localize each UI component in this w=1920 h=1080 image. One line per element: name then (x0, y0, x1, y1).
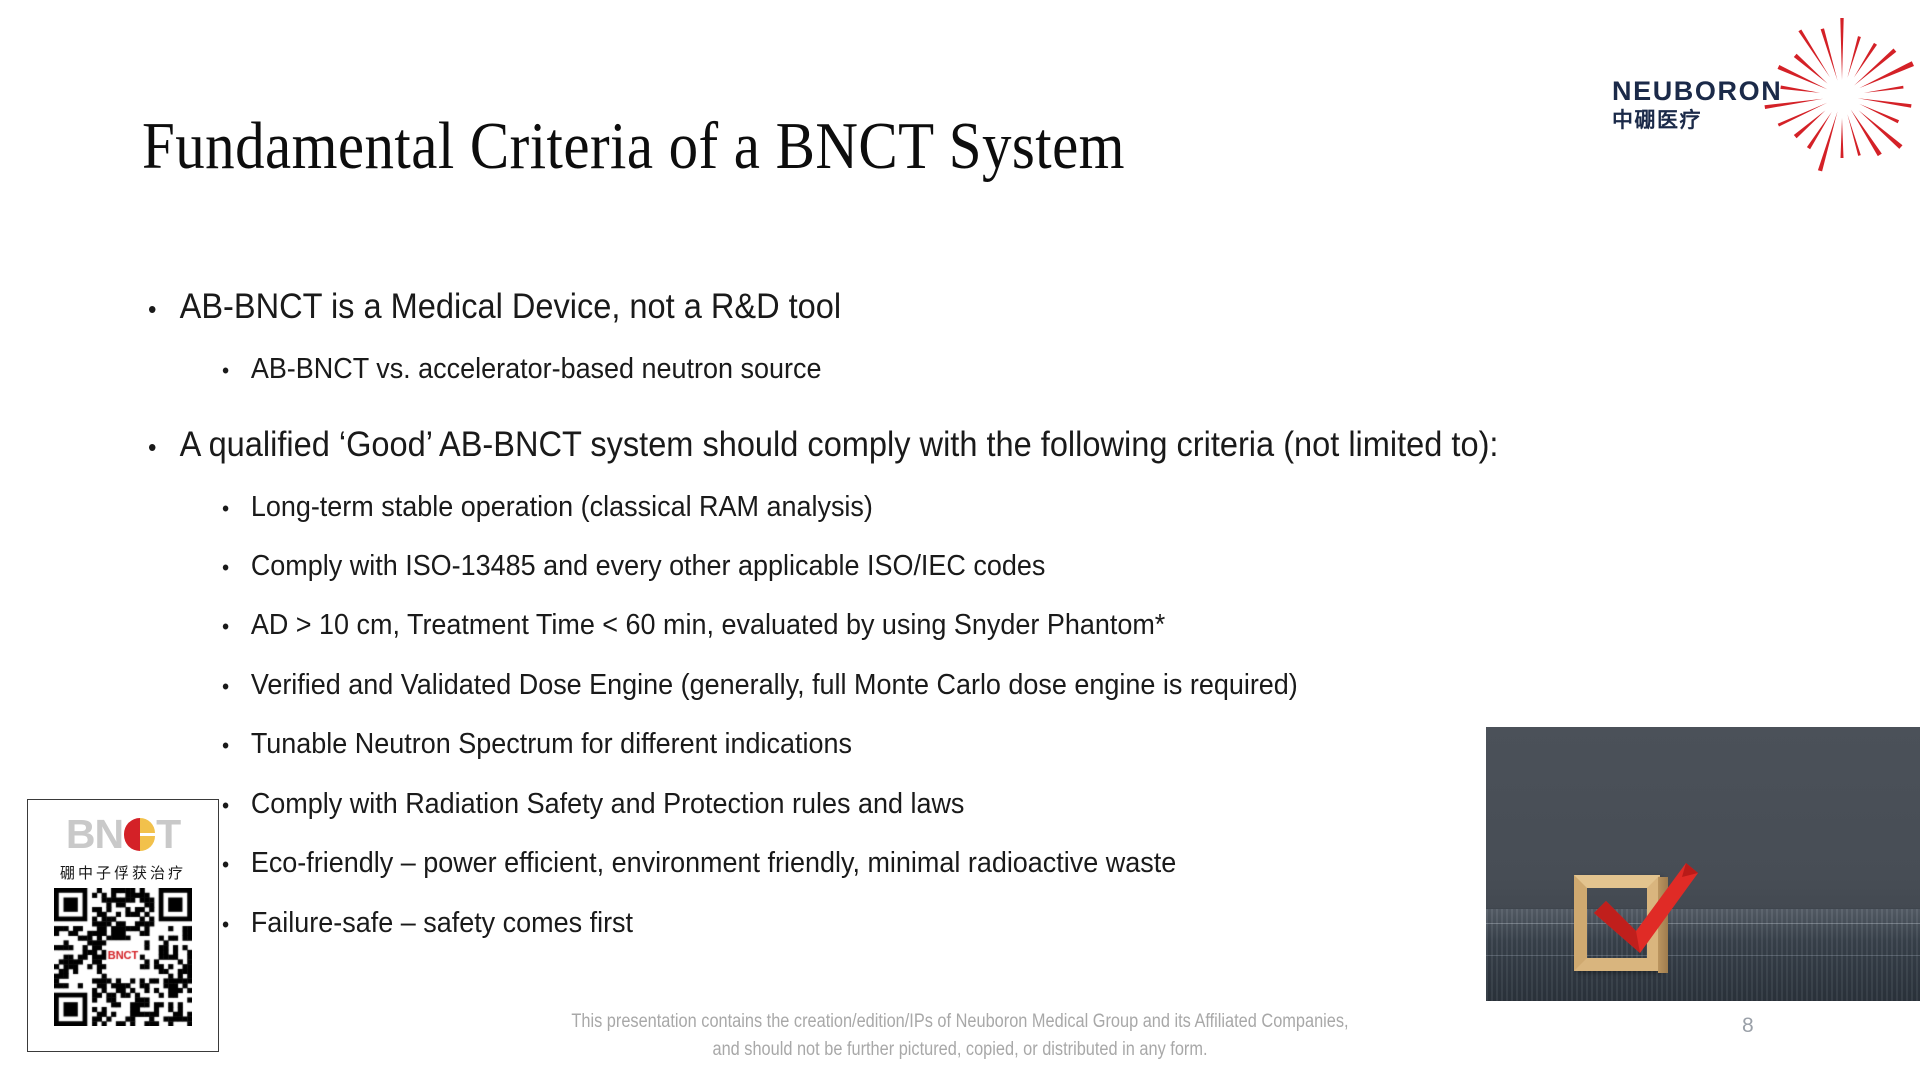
bullet-text: Tunable Neutron Spectrum for different i… (251, 728, 852, 761)
bullet-item-l2: •Failure-safe – safety comes first (222, 907, 633, 940)
bnct-badge-logo: B N T (38, 811, 208, 858)
bullet-text: Comply with Radiation Safety and Protect… (251, 788, 965, 821)
bullet-marker-icon: • (148, 296, 180, 322)
checkmark-icon (1590, 857, 1700, 957)
bullet-marker-icon: • (222, 795, 251, 817)
bullet-item-l2: •Comply with ISO-13485 and every other a… (222, 550, 1045, 583)
bullet-text: AD > 10 cm, Treatment Time < 60 min, eva… (251, 609, 1165, 642)
bullet-marker-icon: • (222, 557, 251, 579)
bullet-marker-icon: • (222, 854, 251, 876)
bullet-marker-icon: • (222, 735, 251, 757)
sunburst-icon (1762, 16, 1920, 176)
bullet-item-l2: •AD > 10 cm, Treatment Time < 60 min, ev… (222, 609, 1165, 642)
bullet-text: AB-BNCT vs. accelerator-based neutron so… (251, 353, 822, 386)
bullet-marker-icon: • (222, 616, 251, 638)
page-title: Fundamental Criteria of a BNCT System (142, 108, 1125, 185)
bullet-text: Long-term stable operation (classical RA… (251, 491, 873, 524)
badge-letter-b: B (66, 814, 95, 855)
bullet-text: Comply with ISO-13485 and every other ap… (251, 550, 1046, 583)
badge-caption-cn: 硼中子俘获治疗 (38, 862, 208, 883)
slide-canvas: NEUBORON 中硼医疗 Fundamental Criteria of a … (0, 0, 1920, 1080)
bullet-item-l2: •AB-BNCT vs. accelerator-based neutron s… (222, 353, 821, 386)
bullet-item-l1: •AB-BNCT is a Medical Device, not a R&D … (148, 287, 841, 327)
footer-line-2: and should not be further pictured, copi… (134, 1036, 1785, 1064)
bullet-item-l2: •Verified and Validated Dose Engine (gen… (222, 669, 1298, 702)
bullet-item-l2: •Eco-friendly – power efficient, environ… (222, 847, 1176, 880)
bullet-item-l2: •Comply with Radiation Safety and Protec… (222, 788, 964, 821)
bullet-item-l1: •A qualified ‘Good’ AB-BNCT system shoul… (148, 425, 1498, 465)
bullet-marker-icon: • (148, 434, 180, 460)
badge-letter-c-icon (124, 818, 155, 851)
bullet-marker-icon: • (222, 914, 251, 936)
bullet-marker-icon: • (222, 498, 251, 520)
badge-letter-t: T (156, 814, 180, 855)
slide-page-number: 8 (1742, 1014, 1754, 1038)
bullet-marker-icon: • (222, 676, 251, 698)
checkmark-photo (1486, 727, 1920, 1001)
bullet-item-l2: •Tunable Neutron Spectrum for different … (222, 728, 852, 761)
photo-wood-surface (1486, 909, 1920, 1001)
neuboron-logo: NEUBORON 中硼医疗 (1612, 24, 1912, 154)
bullet-text: Eco-friendly – power efficient, environm… (251, 847, 1176, 880)
footer-disclaimer: This presentation contains the creation/… (0, 1008, 1920, 1063)
bullet-text: Failure-safe – safety comes first (251, 907, 633, 940)
badge-letter-n: N (94, 814, 123, 855)
bullet-text: A qualified ‘Good’ AB-BNCT system should… (180, 425, 1499, 465)
bullet-text: Verified and Validated Dose Engine (gene… (251, 669, 1298, 702)
bullet-marker-icon: • (222, 360, 251, 382)
footer-line-1: This presentation contains the creation/… (134, 1008, 1785, 1036)
bullet-text: AB-BNCT is a Medical Device, not a R&D t… (180, 287, 841, 327)
bullet-item-l2: •Long-term stable operation (classical R… (222, 491, 873, 524)
